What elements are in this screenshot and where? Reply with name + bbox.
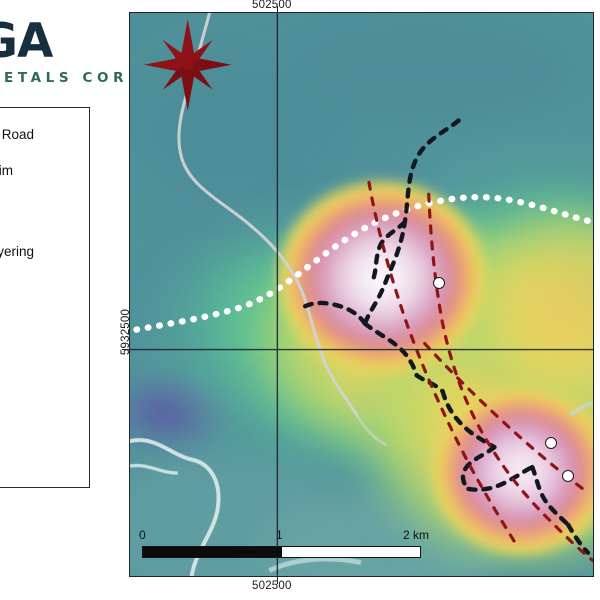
- map-legend-panel: Service Road ect_Claim rty rogram xide-L…: [0, 107, 90, 488]
- scale-segment-1: [212, 547, 281, 557]
- sample-point-2[interactable]: [545, 437, 557, 449]
- scale-segment-0: [143, 547, 212, 557]
- legend-label: xide-Layering: [0, 244, 34, 259]
- legend-item-project-claim: ect_Claim: [0, 158, 89, 183]
- scale-segment-2: [282, 547, 351, 557]
- x-axis-tick-label-top: 502500: [252, 0, 292, 11]
- legend-heading-property: rty: [0, 205, 89, 220]
- legend-label: Service Road: [0, 127, 34, 142]
- legend-heading-other: er: [0, 289, 89, 304]
- scale-tick-2: 2 km: [403, 528, 429, 542]
- legend-item-oxide-layering: xide-Layering: [0, 241, 89, 261]
- scale-bar: [142, 546, 421, 558]
- map-canvas: [130, 13, 593, 576]
- x-axis-tick-top: [277, 6, 278, 13]
- legend-label: ect_Claim: [0, 163, 13, 178]
- scale-segment-3: [351, 547, 420, 557]
- north-magnetic-anomaly: [274, 178, 489, 377]
- legend-heading-program: rogram: [0, 226, 89, 241]
- scale-tick-0: 0: [139, 528, 146, 542]
- sample-point-3[interactable]: [562, 470, 574, 482]
- company-logo: AGA METALS CORP: [0, 18, 134, 88]
- legend-item-trenches: enches: [0, 304, 89, 324]
- logo-tagline: METALS CORP: [0, 70, 134, 86]
- scale-tick-1: 1: [276, 528, 283, 542]
- y-axis-tick-left: [122, 349, 130, 350]
- legend-item-trail: ail: [0, 324, 89, 344]
- x-axis-tick-label-bottom: 502500: [252, 580, 292, 592]
- map-page: AGA METALS CORP Service Road ect_Claim r…: [0, 0, 600, 600]
- sample-point-1[interactable]: [433, 277, 445, 289]
- legend-item-service-road: Service Road: [0, 122, 89, 147]
- x-axis-tick-bottom: [277, 577, 278, 584]
- logo-wordmark: AGA: [0, 18, 134, 65]
- map-viewport[interactable]: 0 1 2 km: [129, 12, 594, 577]
